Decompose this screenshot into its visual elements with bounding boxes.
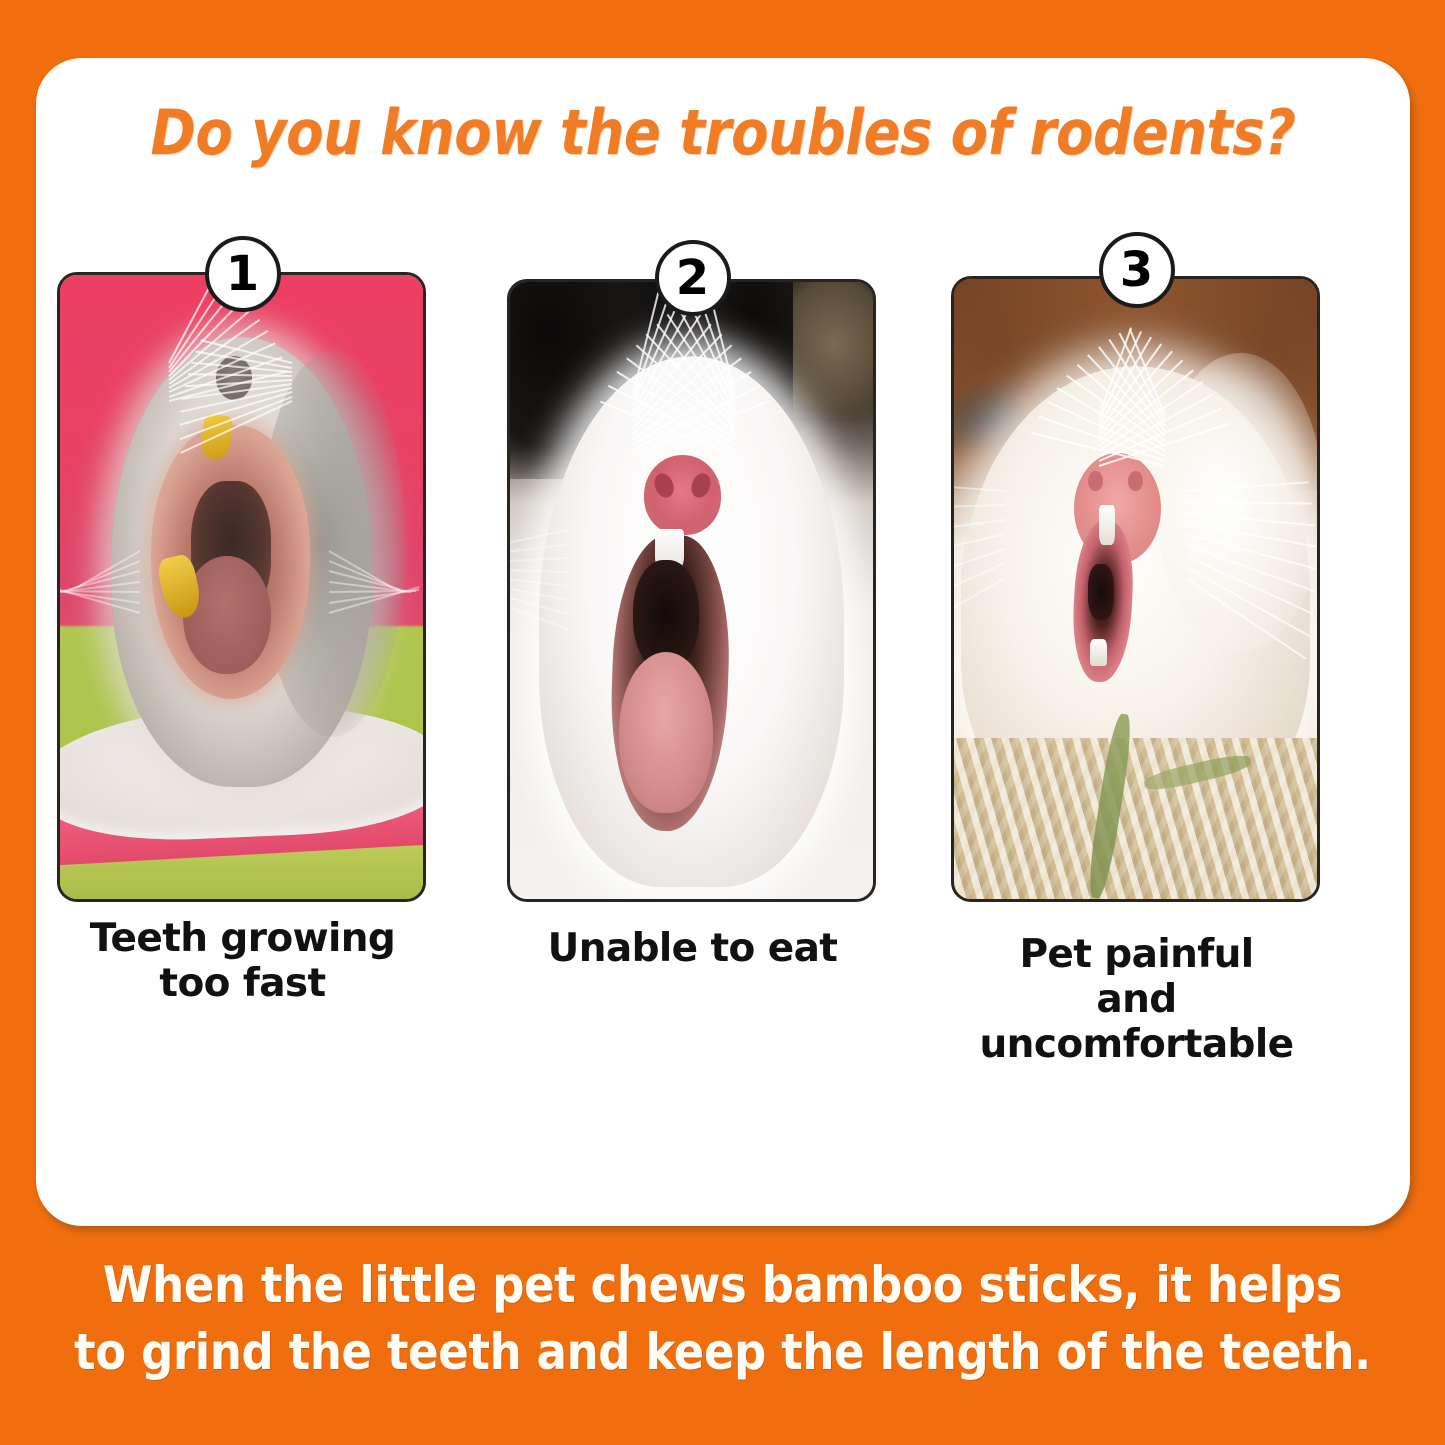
trouble-photo-1 <box>57 272 426 902</box>
trouble-cards-row: 1 Teeth gr <box>57 214 1314 1094</box>
trouble-card-1[interactable]: 1 Teeth gr <box>57 214 428 1094</box>
caption-line: Teeth growing <box>90 916 396 961</box>
trouble-caption-3: Pet painful and uncomfortable <box>931 932 1342 1068</box>
page-title: Do you know the troubles of rodents? <box>118 96 1327 169</box>
footer-line-1: When the little pet chews bamboo sticks,… <box>72 1252 1373 1319</box>
caption-line: too fast <box>159 961 325 1006</box>
footer-line-2: to grind the teeth and keep the length o… <box>72 1319 1373 1386</box>
step-badge-1: 1 <box>205 236 281 312</box>
trouble-card-3[interactable]: 3 <box>951 214 1322 1094</box>
trouble-photo-2 <box>507 279 876 902</box>
step-badge-3: 3 <box>1099 232 1175 308</box>
trouble-card-2[interactable]: 2 Unable t <box>507 214 878 1094</box>
caption-line: Unable to eat <box>548 926 838 971</box>
trouble-caption-1: Teeth growing too fast <box>37 916 448 1006</box>
promo-poster: Do you know the troubles of rodents? 1 <box>0 0 1445 1445</box>
caption-line: uncomfortable <box>980 1022 1294 1067</box>
trouble-photo-3 <box>951 276 1320 902</box>
footer-message: When the little pet chews bamboo sticks,… <box>72 1252 1373 1386</box>
caption-line: and <box>1096 977 1176 1022</box>
caption-line: Pet painful <box>1019 932 1253 977</box>
step-badge-2: 2 <box>655 240 731 316</box>
trouble-caption-2: Unable to eat <box>487 926 898 971</box>
